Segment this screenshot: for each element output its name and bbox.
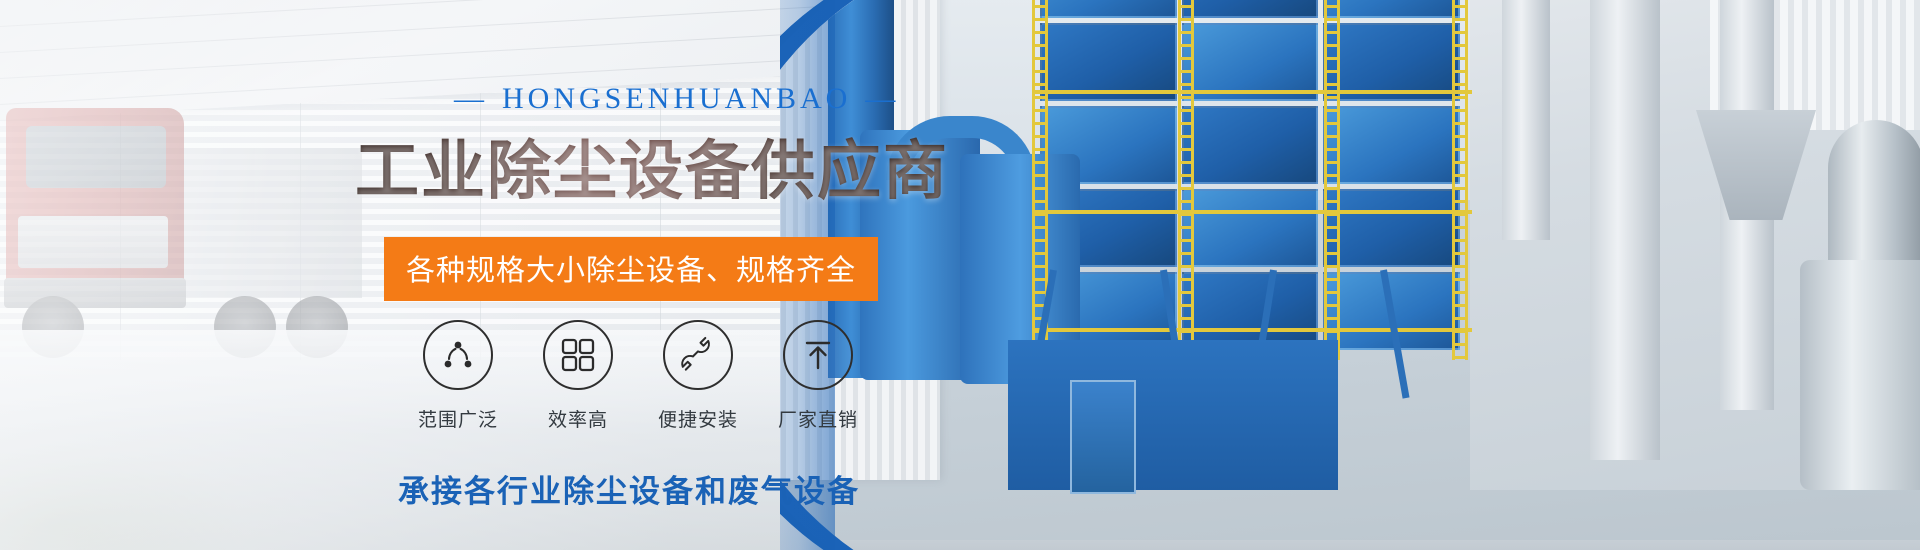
feature-item-direct-sales[interactable]: 厂家直销 (758, 320, 878, 432)
blue-base-enclosure (1008, 340, 1338, 490)
upload-arrow-icon (783, 320, 853, 390)
feature-label: 厂家直销 (778, 405, 858, 432)
feature-item-scope[interactable]: 范围广泛 (398, 320, 518, 432)
hero-banner: —HONGSENHUANBAO— 工业除尘设备供应商 各种规格大小除尘设备、规格… (0, 0, 1920, 550)
feature-label: 效率高 (548, 405, 608, 432)
brand-eyebrow: —HONGSENHUANBAO— (440, 82, 913, 116)
scope-network-icon (423, 320, 493, 390)
brand-name-latin: HONGSENHUANBAO (502, 82, 851, 115)
feature-item-installation[interactable]: 便捷安装 (638, 320, 758, 432)
feature-label: 便捷安装 (658, 405, 738, 432)
page-title: 工业除尘设备供应商 (355, 120, 949, 212)
grid-four-squares-icon (543, 320, 613, 390)
hero-content: —HONGSENHUANBAO— 工业除尘设备供应商 各种规格大小除尘设备、规格… (0, 0, 1000, 550)
feature-label: 范围广泛 (418, 405, 498, 432)
subtitle-orange-bar: 各种规格大小除尘设备、规格齐全 (384, 237, 878, 301)
tagline: 承接各行业除尘设备和废气设备 (398, 466, 860, 511)
feature-list: 范围广泛 效率高 (398, 320, 878, 432)
subtitle-text: 各种规格大小除尘设备、规格齐全 (406, 255, 856, 287)
wrench-icon (663, 320, 733, 390)
feature-item-efficiency[interactable]: 效率高 (518, 320, 638, 432)
base-door (1070, 380, 1136, 494)
dash-right-icon: — (851, 82, 913, 116)
dash-left-icon: — (440, 82, 502, 116)
